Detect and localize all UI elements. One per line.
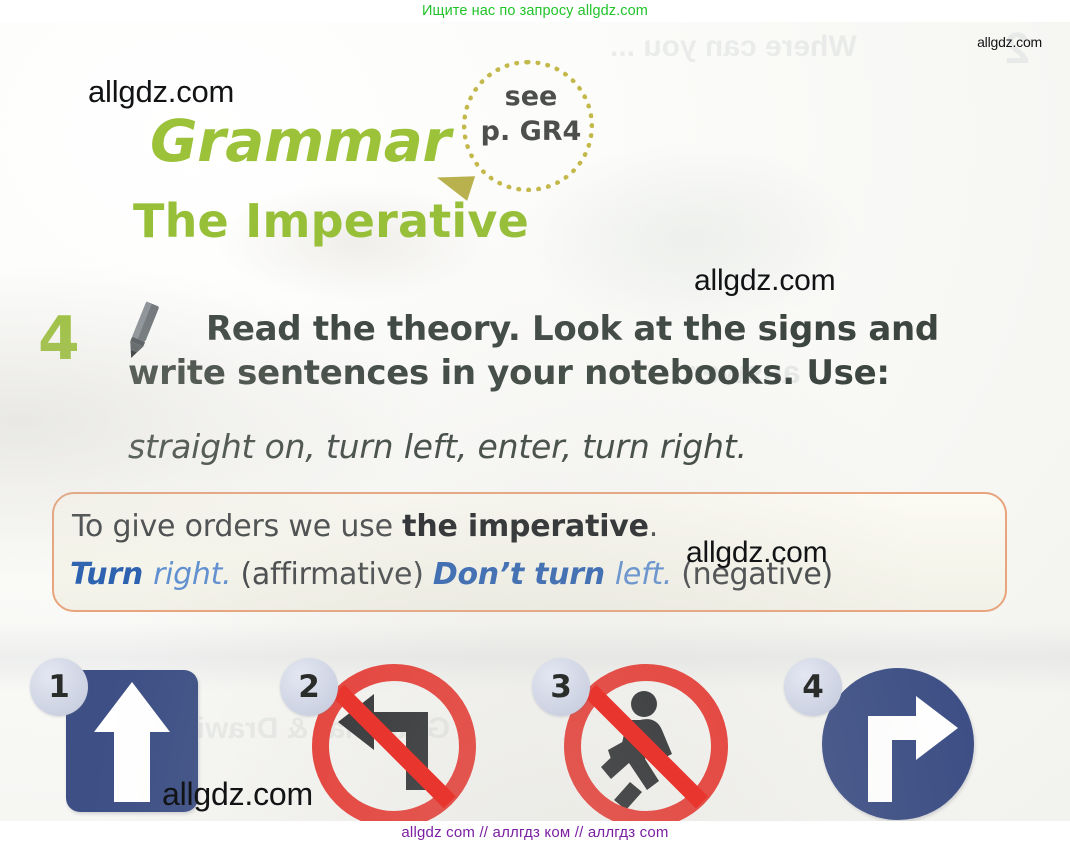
top-promo-text: Ищите нас по запросу allgdz.com [422,3,648,19]
example-right: right. [153,557,231,592]
footer-promo-text: allgdz com // аллгдз ком // аллгдз com [401,824,668,841]
sign-no-pedestrians: 3 [560,652,760,821]
exercise-instruction-line1: Read the theory. Look at the signs and [128,308,1018,352]
exercise-instruction-line2: write sentences in your notebooks. Use: [128,352,1018,396]
sign-turn-right: 4 [812,652,1012,821]
road-signs-row: 1 2 [0,652,1070,821]
top-promo-banner: Ищите нас по запросу allgdz.com [0,0,1070,22]
theory-rule-prefix: To give orders we use [72,509,402,544]
theory-box: To give orders we use the imperative. Tu… [52,492,1007,612]
example-affirmative-label: (affirmative) [231,557,433,592]
example-turn: Turn [70,557,153,592]
sign-1-number-badge: 1 [30,658,88,716]
example-negative-label: (negative) [672,557,833,592]
see-reference-line1: see [505,81,558,112]
sign-3-number-badge: 3 [532,658,590,716]
ghost-text-reverse-page: Where can you ... [610,30,857,64]
arrow-right-turn-icon [822,668,974,820]
sign-2-number-badge: 2 [280,658,338,716]
example-dont-turn: Don’t turn [433,557,615,592]
watermark-allgdz-1: allgdz.com [88,74,234,110]
theory-examples-line: Turn right. (affirmative) Don’t turn lef… [70,557,833,592]
theory-rule-line: To give orders we use the imperative. [72,509,658,544]
see-reference-text: see p. GR4 [466,80,596,149]
sign-straight-on: 1 [58,652,258,821]
theory-rule-period: . [649,509,658,544]
sign-4-number-badge: 4 [784,658,842,716]
example-left: left. [615,557,672,592]
sign-no-left-turn: 2 [308,652,508,821]
watermark-allgdz-2: allgdz.com [977,34,1042,50]
theory-rule-term: the imperative [402,509,649,544]
footer-promo-banner: allgdz com // аллгдз ком // аллгдз com [0,821,1070,843]
exercise-instruction: Read the theory. Look at the signs and w… [128,308,1018,395]
textbook-page-scan: Where can you ... 2 answer Grammar & Dra… [0,22,1070,821]
see-reference-line2: p. GR4 [481,116,582,147]
exercise-word-bank: straight on, turn left, enter, turn righ… [128,427,1028,466]
exercise-number: 4 [38,304,80,374]
page-subtitle-imperative: The Imperative [133,194,529,248]
ghost-number-reverse-page: 2 [1005,24,1029,74]
page-title-grammar: Grammar [150,107,450,175]
